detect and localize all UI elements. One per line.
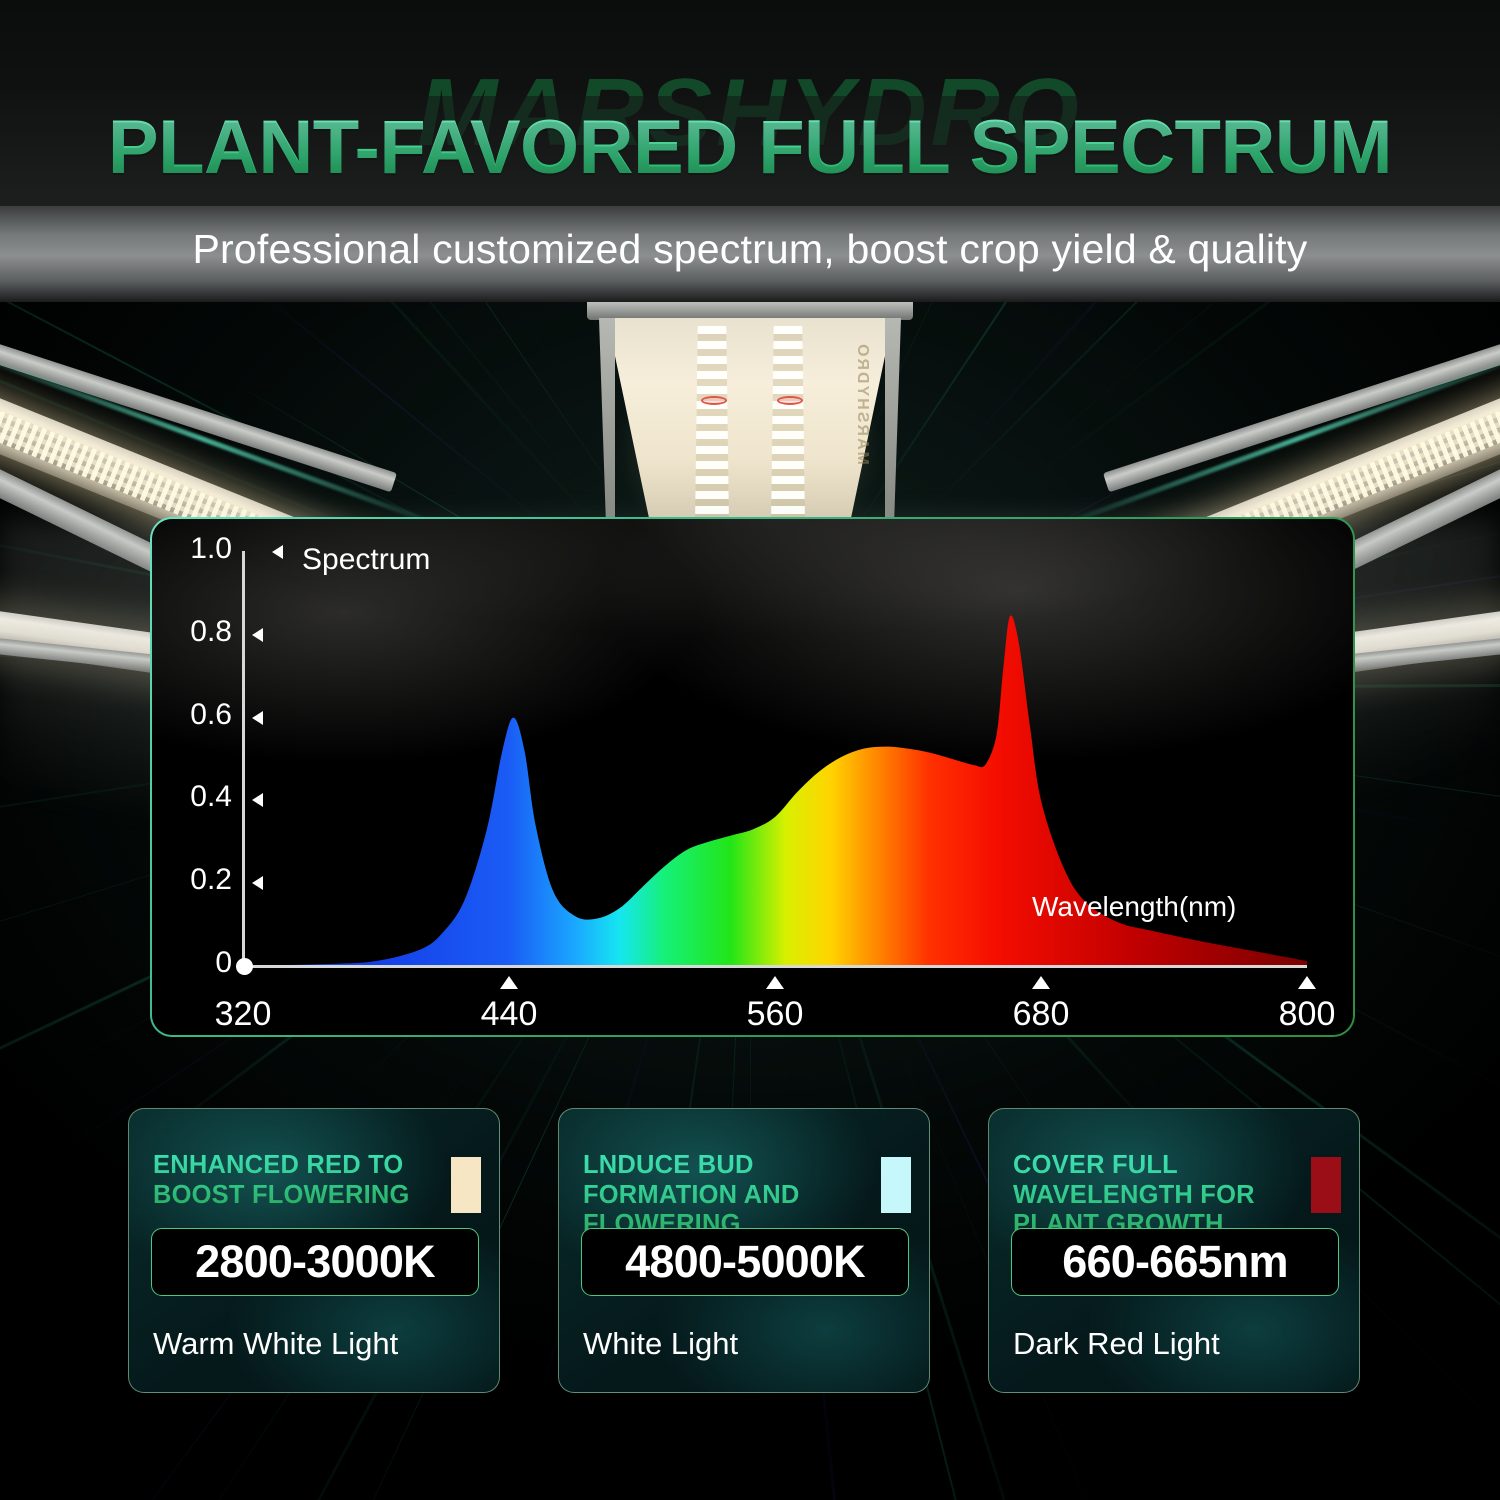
x-tick-label: 440 [439, 995, 579, 1034]
value-text: 4800-5000K [625, 1236, 865, 1288]
fixture-indicator-1 [701, 396, 727, 405]
card-heading: COVER FULL WAVELENGTH FOR PLANT GROWTH [1013, 1151, 1283, 1240]
x-tick-label: 560 [705, 995, 845, 1034]
origin-marker [236, 958, 253, 975]
feature-card-row: ENHANCED RED TO BOOST FLOWERING 2800-300… [0, 1108, 1500, 1398]
fixture-led-strip-1 [695, 326, 729, 526]
header: MARSHYDRO PLANT-FAVORED FULL SPECTRUM Pr… [0, 0, 1500, 300]
y-axis [242, 551, 245, 966]
y-tick-label: 0.8 [152, 615, 232, 649]
y-tick-label: 0.4 [152, 780, 232, 814]
page-subtitle: Professional customized spectrum, boost … [0, 226, 1500, 273]
fixture-brand-text: MARSHYDRO [853, 342, 871, 465]
fixture-indicator-2 [777, 396, 803, 405]
x-tick-label: 320 [173, 995, 313, 1034]
x-axis-label: Wavelength(nm) [1032, 891, 1236, 923]
card-footer-label: White Light [583, 1326, 738, 1362]
y-tick-label: 0 [152, 946, 232, 980]
card-footer-label: Warm White Light [153, 1326, 398, 1362]
x-axis [242, 965, 1307, 968]
spectrum-chart-card: 00.20.40.60.81.0 320440560680800 Spectru… [150, 517, 1355, 1037]
value-badge: 660-665nm [1011, 1228, 1339, 1296]
y-tick-label: 0.2 [152, 863, 232, 897]
center-led-fixture: MARSHYDRO [575, 296, 925, 536]
x-tick-arrow-icon [1298, 976, 1316, 989]
x-tick-arrow-icon [500, 976, 518, 989]
y-tick-label: 0.6 [152, 698, 232, 732]
feature-card[interactable]: COVER FULL WAVELENGTH FOR PLANT GROWTH 6… [988, 1108, 1360, 1393]
y-tick-arrow-icon [252, 876, 263, 890]
spectrum-curve [152, 519, 1353, 1035]
card-footer-label: Dark Red Light [1013, 1326, 1220, 1362]
x-tick-label: 800 [1237, 995, 1353, 1034]
y-tick-arrow-icon [252, 711, 263, 725]
value-badge: 2800-3000K [151, 1228, 479, 1296]
page-title: PLANT-FAVORED FULL SPECTRUM [0, 104, 1500, 191]
y-tick-label: 1.0 [152, 532, 232, 566]
spectrum-label-arrow-icon [272, 545, 283, 559]
fixture-body [607, 318, 893, 536]
cool-white-swatch [881, 1157, 911, 1213]
chart-inner: 00.20.40.60.81.0 320440560680800 Spectru… [152, 519, 1353, 1035]
y-axis-label: Spectrum [302, 543, 430, 577]
feature-card[interactable]: ENHANCED RED TO BOOST FLOWERING 2800-300… [128, 1108, 500, 1393]
y-tick-arrow-icon [252, 793, 263, 807]
fixture-led-strip-2 [771, 326, 805, 526]
value-text: 660-665nm [1062, 1236, 1287, 1288]
x-tick-arrow-icon [1032, 976, 1050, 989]
card-heading: ENHANCED RED TO BOOST FLOWERING [153, 1151, 423, 1210]
value-badge: 4800-5000K [581, 1228, 909, 1296]
x-tick-arrow-icon [766, 976, 784, 989]
x-tick-label: 680 [971, 995, 1111, 1034]
feature-card[interactable]: LNDUCE BUD FORMATION AND FLOWERING 4800-… [558, 1108, 930, 1393]
spectrum-plot: 00.20.40.60.81.0 320440560680800 Spectru… [152, 519, 1353, 1035]
value-text: 2800-3000K [195, 1236, 435, 1288]
warm-white-swatch [451, 1157, 481, 1213]
card-heading: LNDUCE BUD FORMATION AND FLOWERING [583, 1151, 853, 1240]
y-tick-arrow-icon [252, 628, 263, 642]
deep-red-swatch [1311, 1157, 1341, 1213]
